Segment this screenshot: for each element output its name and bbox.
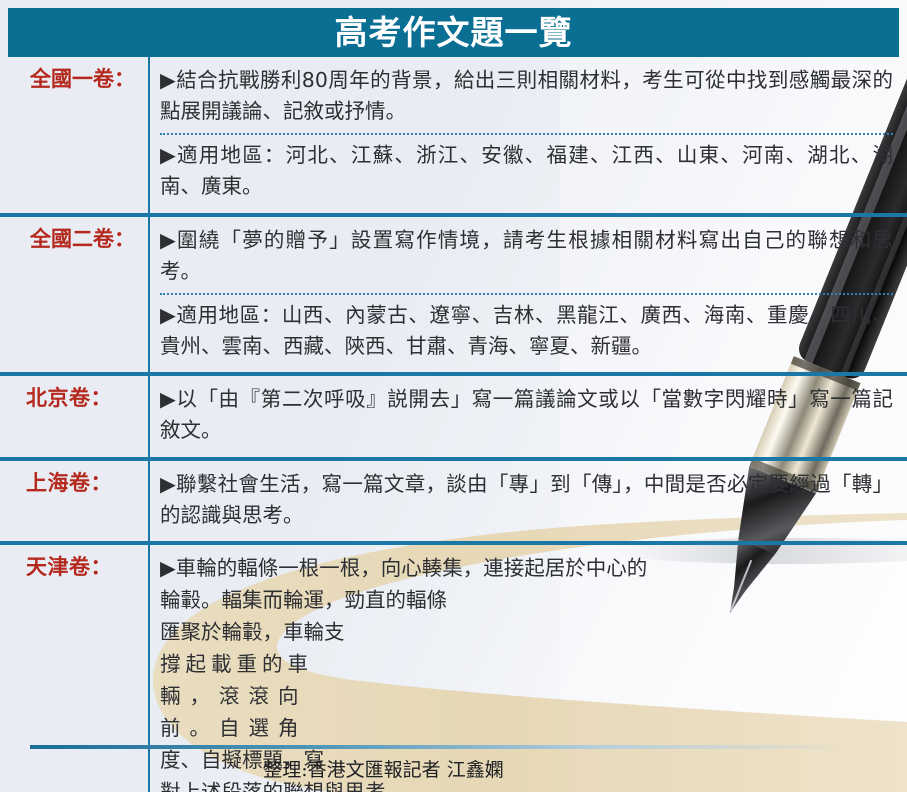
table-row: 北京卷： ▶以「由『第二次呼吸』説開去」寫一篇議論文或以「當數字閃耀時」寫一篇記…	[0, 372, 907, 456]
prompt-text: ▶圍繞「夢的贈予」設置寫作情境，請考生根據相關材料寫出自己的聯想和思考。	[160, 225, 893, 287]
row-content: ▶以「由『第二次呼吸』説開去」寫一篇議論文或以「當數字閃耀時」寫一篇記敘文。	[148, 376, 907, 456]
prompt-text: ▶聯繫社會生活，寫一篇文章，談由「專」到「傳」，中間是否必定要經過「轉」的認識與…	[160, 469, 893, 531]
prompt-line: 撐起載重的車	[160, 649, 893, 681]
infographic-page: 高考作文題一覽 全國一卷： ▶結合抗戰勝利80周年的背景，給出三則相關材料，考生…	[0, 0, 907, 792]
row-label: 全國一卷：	[0, 57, 148, 92]
row-label: 全國二卷：	[0, 217, 148, 252]
row-content: ▶結合抗戰勝利80周年的背景，給出三則相關材料，考生可從中找到感觸最深的點展開議…	[148, 57, 907, 213]
header-bar: 高考作文題一覽	[8, 8, 899, 57]
row-label: 北京卷：	[0, 376, 148, 411]
exam-prompt-table: 全國一卷： ▶結合抗戰勝利80周年的背景，給出三則相關材料，考生可從中找到感觸最…	[0, 57, 907, 792]
table-row: 上海卷： ▶聯繫社會生活，寫一篇文章，談由「專」到「傳」，中間是否必定要經過「轉…	[0, 457, 907, 541]
prompt-line: 輪轂。輻集而輪運，勁直的輻條	[160, 585, 893, 617]
prompt-line: 匯聚於輪轂，車輪支	[160, 617, 893, 649]
row-content: ▶聯繫社會生活，寫一篇文章，談由「專」到「傳」，中間是否必定要經過「轉」的認識與…	[148, 461, 907, 541]
prompt-line: 輛，滾滾向	[160, 681, 893, 713]
prompt-text: ▶結合抗戰勝利80周年的背景，給出三則相關材料，考生可從中找到感觸最深的點展開議…	[160, 65, 893, 127]
row-label: 天津卷：	[0, 545, 148, 580]
prompt-line: ▶車輪的輻條一根一根，向心輳集，連接起居於中心的	[160, 553, 893, 585]
applicable-regions-text: ▶適用地區：河北、江蘇、浙江、安徽、福建、江西、山東、河南、湖北、湖南、廣東。	[160, 140, 893, 202]
row-label: 上海卷：	[0, 461, 148, 496]
prompt-text: ▶以「由『第二次呼吸』説開去」寫一篇議論文或以「當數字閃耀時」寫一篇記敘文。	[160, 384, 893, 446]
table-row: 全國一卷： ▶結合抗戰勝利80周年的背景，給出三則相關材料，考生可從中找到感觸最…	[0, 57, 907, 213]
footer-divider	[30, 745, 850, 749]
footer-credit: 整理:香港文匯報記者 江鑫嫻	[0, 755, 907, 782]
page-title: 高考作文題一覽	[335, 16, 573, 49]
dotted-separator	[160, 293, 893, 295]
dotted-separator	[160, 133, 893, 135]
prompt-line: 前。自選角	[160, 713, 893, 745]
table-row: 全國二卷： ▶圍繞「夢的贈予」設置寫作情境，請考生根據相關材料寫出自己的聯想和思…	[0, 213, 907, 373]
applicable-regions-text: ▶適用地區：山西、內蒙古、遼寧、吉林、黑龍江、廣西、海南、重慶、四川、貴州、雲南…	[160, 300, 893, 362]
row-content: ▶圍繞「夢的贈予」設置寫作情境，請考生根據相關材料寫出自己的聯想和思考。 ▶適用…	[148, 217, 907, 373]
